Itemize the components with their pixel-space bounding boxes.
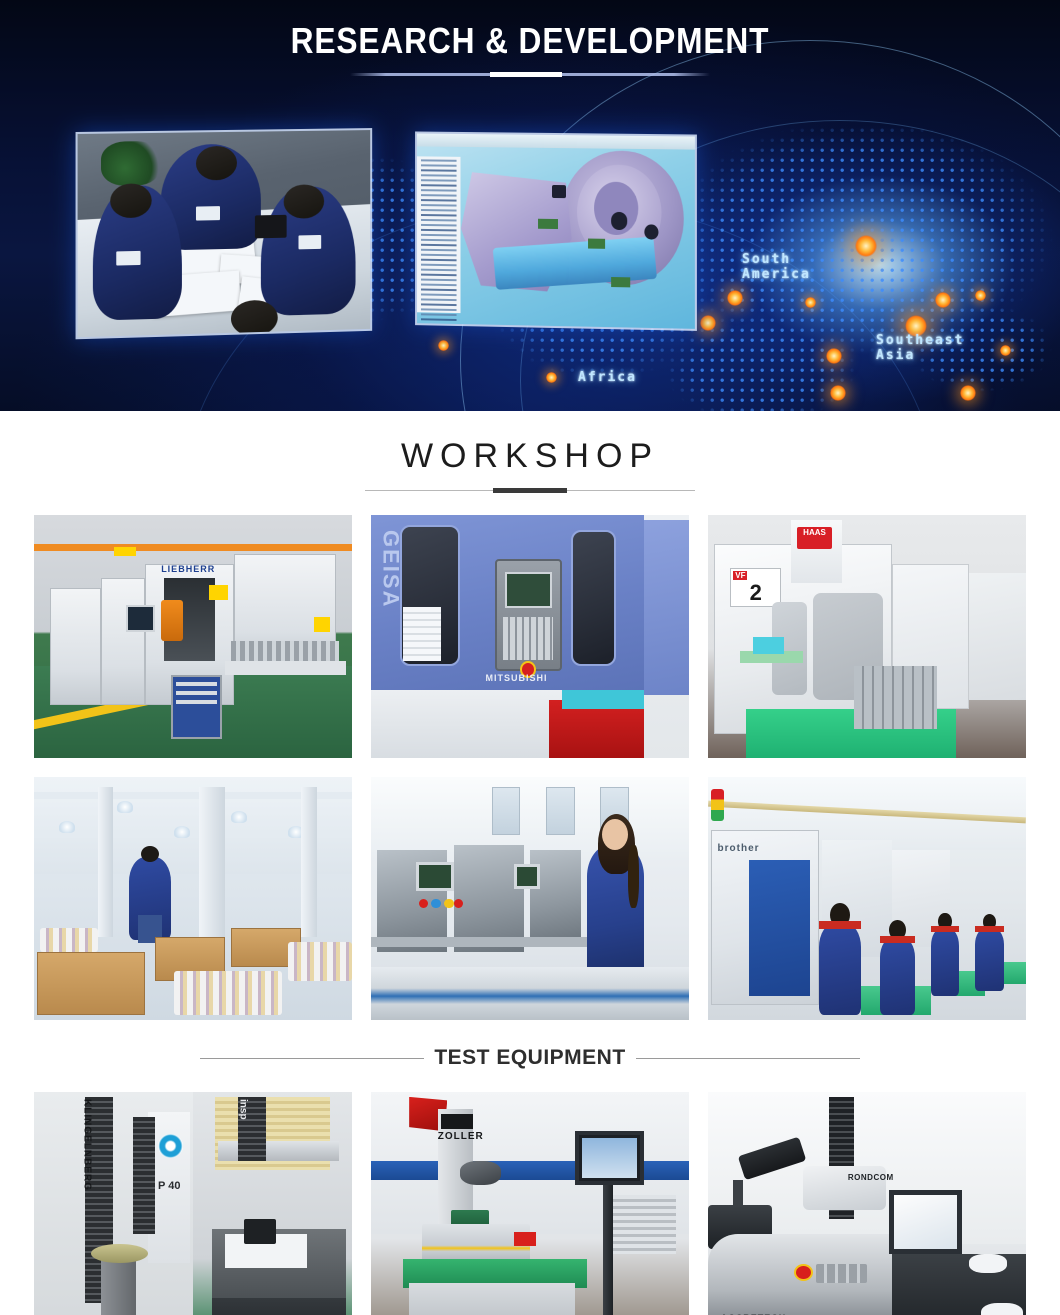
warning-label	[114, 547, 136, 557]
banner-title: RESEARCH & DEVELOPMENT	[64, 20, 997, 62]
heading-rule-left	[200, 1058, 424, 1059]
conveyor-belt	[371, 967, 689, 1020]
support-column	[199, 787, 224, 938]
map-hotspot-icon	[935, 292, 951, 308]
cad-titlebar	[417, 133, 695, 149]
test-equipment-title: TEST EQUIPMENT	[424, 1046, 635, 1070]
machine-brand-label: brother	[718, 843, 760, 854]
control-cabinet	[101, 578, 146, 704]
workshop-title-divider	[365, 490, 695, 491]
worker-figure	[880, 937, 915, 1015]
test-equipment-photo-grid: KLINGELNBERG P 40 insp	[0, 1092, 1060, 1315]
workshop-photo-warehouse-assembly-floor	[34, 777, 352, 1020]
support-column	[301, 787, 317, 938]
workshop-title: WORKSHOP	[0, 437, 1060, 476]
stacked-parts	[288, 942, 352, 981]
machine-hmi-screen	[416, 862, 454, 891]
map-hotspot-icon	[727, 290, 743, 306]
pendant-lamp-icon	[117, 801, 133, 813]
monitor-stand	[603, 1185, 613, 1315]
test-equipment-section: TEST EQUIPMENT KLINGELNBERG P 40	[0, 1046, 1060, 1315]
klingelnberg-scene: KLINGELNBERG P 40 insp	[34, 1092, 352, 1315]
brother-line-scene: brother	[708, 777, 1026, 1020]
cnc-control-panel	[495, 559, 562, 671]
machine-enclosure	[969, 573, 1026, 699]
banner-photo-cad-software-cross-section	[415, 131, 697, 330]
parts-conveyor	[225, 661, 346, 676]
worker-figure	[931, 928, 960, 996]
factory-wall	[371, 777, 689, 860]
map-hotspot-icon	[975, 290, 986, 301]
window	[546, 787, 575, 836]
stacked-parts	[174, 971, 282, 1015]
parts-tray	[562, 690, 645, 709]
overhead-crane-beam	[34, 544, 352, 551]
test-photo-klingelnberg-p40-cmm: KLINGELNBERG P 40 insp	[34, 1092, 352, 1315]
banner-photo-engineers-reviewing-drawings	[76, 128, 373, 339]
workshop-photo-grid: LIEBHERR GEISA MITSUBISHI	[0, 515, 1060, 1020]
safety-stickers	[403, 607, 441, 660]
test-equipment-heading: TEST EQUIPMENT	[200, 1046, 860, 1070]
map-hotspot-icon	[438, 340, 449, 351]
engineers-photo-art	[78, 130, 371, 337]
presetter-label-plate	[441, 1114, 473, 1129]
machine-interior-part	[161, 600, 183, 641]
research-development-banner: South America Africa Southeast Asia	[0, 0, 1060, 411]
map-hotspot-icon	[1000, 345, 1011, 356]
machine-hmi-screen	[514, 864, 539, 888]
worker-figure	[129, 857, 170, 940]
map-hotspot-icon	[805, 297, 816, 308]
geisa-scene: GEISA MITSUBISHI	[371, 515, 689, 758]
warning-label	[314, 617, 330, 632]
map-label-south-america: South America	[742, 252, 811, 282]
warehouse-scene	[34, 777, 352, 1020]
stacked-parts	[40, 928, 97, 952]
accretech-scene: RONDCOM ACCRETECH	[708, 1092, 1026, 1315]
operator-gloved-hand	[981, 1303, 1022, 1315]
workpiece	[244, 1219, 276, 1244]
air-conditioner	[613, 1195, 677, 1254]
test-photo-accretech-rondcom: RONDCOM ACCRETECH	[708, 1092, 1026, 1315]
workshop-photo-mitsubishi-geisa-machine: GEISA MITSUBISHI	[371, 515, 689, 758]
test-photo-zoller-tool-presetter: ZOLLER	[371, 1092, 689, 1315]
machine-button	[431, 899, 441, 909]
cnc-keypad	[503, 617, 553, 660]
pendant-lamp-icon	[174, 826, 190, 838]
measuring-column	[133, 1117, 155, 1235]
measuring-tool-icon	[255, 215, 287, 238]
machine-brand-label: ZOLLER	[438, 1131, 476, 1142]
pendant-lamp-icon	[59, 821, 75, 833]
pendant-lamp-icon	[231, 811, 247, 823]
machine-sub-brand-label: MITSUBISHI	[485, 673, 547, 683]
wooden-crate	[37, 952, 145, 1015]
worker-figure	[587, 845, 644, 976]
conveyor-rail	[371, 937, 600, 947]
cad-dark-detail	[644, 224, 658, 240]
tool-drawer-cabinet	[171, 675, 222, 738]
liebherr-scene: LIEBHERR	[34, 515, 352, 758]
worker-ponytail	[628, 845, 638, 908]
signal-tower-light-icon	[711, 789, 724, 821]
bench-cabinet	[409, 1283, 574, 1315]
cad-dark-detail	[552, 185, 566, 199]
machine-model-plate: VF 2	[730, 568, 781, 607]
parts-bin	[753, 637, 785, 654]
machine-hmi-screen	[126, 605, 155, 632]
machine-brand-label: LIEBHERR	[161, 564, 215, 574]
cad-green-face	[588, 239, 605, 249]
map-hotspot-icon	[855, 235, 877, 257]
machine-button	[514, 1232, 536, 1247]
machined-parts-row	[231, 641, 339, 660]
control-cabinet	[50, 588, 101, 705]
monitor	[575, 1131, 645, 1185]
machine-control-panel	[816, 1264, 867, 1284]
map-hotspot-icon	[960, 385, 976, 401]
heading-rule-right	[636, 1058, 860, 1059]
machine-base	[371, 690, 562, 758]
machine-secondary-brand-label: insp	[238, 1099, 249, 1120]
production-machine	[454, 845, 524, 952]
optical-measuring-head	[460, 1161, 501, 1186]
machine-brand-label: KLINGELNBERG	[82, 1099, 93, 1191]
map-label-africa: Africa	[578, 370, 637, 385]
zoller-scene: ZOLLER	[371, 1092, 689, 1315]
cad-side-panel	[417, 156, 461, 312]
machined-parts-rack	[854, 666, 937, 729]
machine-model-label: RONDCOM	[848, 1173, 894, 1182]
workshop-photo-production-line-operator	[371, 777, 689, 1020]
banner-title-divider	[350, 73, 710, 76]
machine-door	[571, 530, 616, 666]
machine-button	[444, 899, 454, 909]
operator-gloved-hand	[969, 1254, 1007, 1274]
id-badge	[196, 206, 219, 221]
machine-model-label: P 40	[158, 1180, 180, 1192]
cad-green-face	[538, 219, 557, 229]
cad-dark-detail	[611, 212, 628, 229]
workshop-photo-haas-vf2-machining-center: HAAS VF 2	[708, 515, 1026, 758]
support-column	[98, 787, 114, 938]
map-hotspot-icon	[830, 385, 846, 401]
map-label-southeast-asia: Southeast Asia	[876, 333, 964, 363]
haas-logo: HAAS	[797, 527, 832, 549]
workshop-section: WORKSHOP LIEBHERR	[0, 437, 1060, 1020]
worker-figure	[975, 928, 1004, 991]
cad-green-face	[611, 277, 631, 287]
workshop-photo-brother-cnc-line: brother	[708, 777, 1026, 1020]
window	[492, 787, 521, 836]
warning-label	[209, 585, 228, 600]
model-number-label: 2	[731, 580, 780, 606]
map-hotspot-icon	[546, 372, 557, 383]
workshop-photo-liebherr-gear-machine: LIEBHERR	[34, 515, 352, 758]
id-badge	[116, 250, 140, 265]
monitor	[889, 1190, 962, 1254]
worker-figure	[819, 923, 860, 1015]
machine-door	[749, 860, 809, 996]
cnc-screen	[505, 572, 553, 609]
haas-scene: HAAS VF 2	[708, 515, 1026, 758]
id-badge	[298, 234, 321, 248]
map-hotspot-icon	[826, 348, 842, 364]
production-line-scene	[371, 777, 689, 1020]
plant-icon	[101, 141, 160, 186]
map-hotspot-icon	[700, 315, 716, 331]
machine-brand-label: GEISA	[377, 530, 403, 608]
cad-photo-art	[417, 133, 695, 328]
emergency-stop-button	[794, 1264, 813, 1281]
